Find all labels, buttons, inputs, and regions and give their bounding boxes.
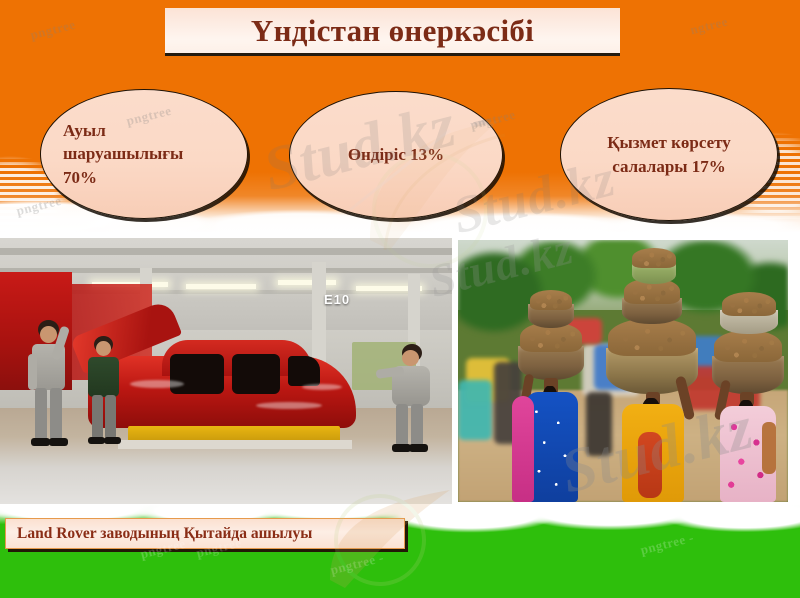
stat-oval-services-label: Қызмет көрсету салалары 17% xyxy=(561,131,777,178)
worker-shoe xyxy=(88,437,105,444)
factory-worker xyxy=(84,336,126,446)
market-woman xyxy=(514,300,584,502)
worker-arm xyxy=(28,354,37,390)
stat-oval-agriculture[interactable]: Ауыл шаруашылығы 70% xyxy=(40,89,248,219)
car-highlight xyxy=(130,380,184,388)
worker-shoe xyxy=(409,444,428,452)
oval1-line1: Ауыл xyxy=(63,119,231,142)
basket-produce xyxy=(714,330,782,362)
caption-text: Land Rover заводының Қытайда ашылуы xyxy=(6,525,312,543)
market-crowd-blur xyxy=(458,380,492,440)
oval2-line1: Өндіріс 13% xyxy=(306,143,486,166)
slide-title-band: Үндістан өнеркәсібі xyxy=(165,8,620,53)
basket-produce xyxy=(722,292,776,316)
ceiling-beam xyxy=(0,248,452,255)
worker-face xyxy=(96,341,111,356)
basket-produce xyxy=(530,290,572,310)
car-window-quarter xyxy=(288,356,320,386)
car-window-front xyxy=(170,354,224,394)
car-highlight xyxy=(256,402,322,409)
oval3-line2: салалары 17% xyxy=(577,155,761,178)
assembly-platform-base xyxy=(118,440,352,449)
ceiling-light xyxy=(278,280,336,285)
worker-shoe xyxy=(49,438,68,446)
ceiling-light xyxy=(186,284,256,289)
photo-row: E10 xyxy=(0,238,800,510)
car-highlight xyxy=(302,384,342,390)
worker-leg xyxy=(92,395,103,439)
market-woman xyxy=(602,264,702,502)
worker-shoe xyxy=(31,438,50,446)
bay-sign-e10: E10 xyxy=(324,292,350,307)
basket-produce xyxy=(632,248,676,268)
worker-shoe xyxy=(104,437,121,444)
factory-worker xyxy=(26,320,78,452)
sari-embroidery xyxy=(638,432,662,498)
worker-leg xyxy=(411,404,423,446)
oval1-line3: 70% xyxy=(63,166,231,189)
worker-leg xyxy=(105,395,116,439)
woman-sari-pink-drape xyxy=(512,396,534,502)
oval1-line2: шаруашылығы xyxy=(63,142,231,165)
worker-torso xyxy=(88,357,119,397)
worker-leg xyxy=(35,388,47,440)
factory-worker xyxy=(380,344,438,452)
stat-oval-production-label: Өндіріс 13% xyxy=(290,143,502,166)
car-window-rear xyxy=(232,354,280,394)
oval3-line1: Қызмет көрсету xyxy=(577,131,761,154)
stat-oval-services[interactable]: Қызмет көрсету салалары 17% xyxy=(560,88,778,221)
worker-leg xyxy=(50,388,62,440)
page-title: Үндістан өнеркәсібі xyxy=(251,15,534,46)
stat-oval-production[interactable]: Өндіріс 13% xyxy=(289,91,503,219)
stat-oval-agriculture-label: Ауыл шаруашылығы 70% xyxy=(41,119,247,189)
market-woman xyxy=(710,296,786,502)
caption-band: Land Rover заводының Қытайда ашылуы xyxy=(5,518,405,549)
photo-market xyxy=(458,240,788,502)
photo-factory: E10 xyxy=(0,238,452,504)
worker-face xyxy=(40,326,57,343)
presentation-slide: Үндістан өнеркәсібі Ауыл шаруашылығы 70%… xyxy=(0,0,800,598)
shoulder-strap xyxy=(762,422,776,474)
worker-face xyxy=(402,350,419,366)
worker-leg xyxy=(396,404,408,446)
